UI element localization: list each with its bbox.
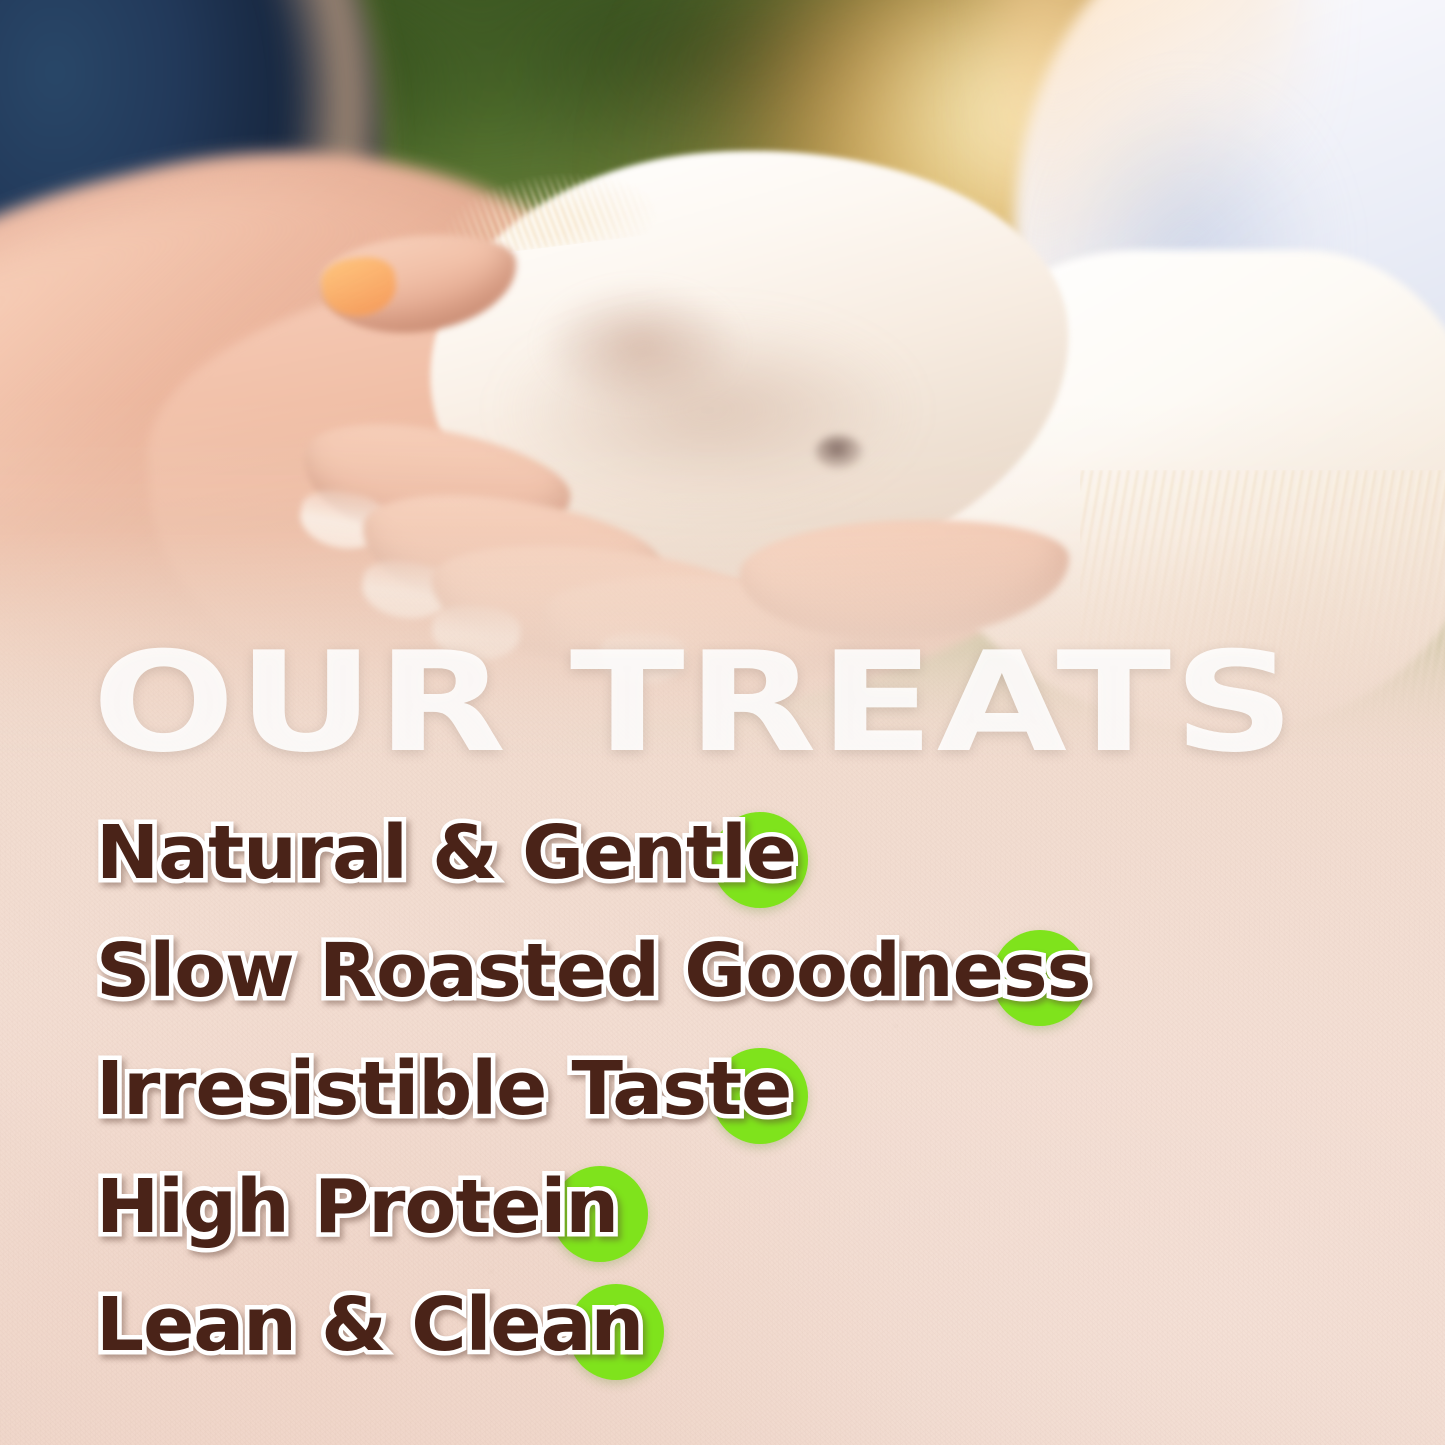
feature-label: Lean & Clean [96, 1288, 643, 1362]
list-item: Irresistible Taste [0, 1036, 1445, 1154]
list-item: Slow Roasted Goodness [0, 918, 1445, 1036]
list-item: Lean & Clean [0, 1272, 1445, 1390]
list-item: High Protein [0, 1154, 1445, 1272]
page-title: OUR TREATS [92, 634, 1297, 772]
feature-label: Slow Roasted Goodness [96, 934, 1091, 1008]
poster-canvas: OUR TREATS Natural & Gentle Slow Roasted… [0, 0, 1445, 1445]
list-item: Natural & Gentle [0, 800, 1445, 918]
feature-label: Natural & Gentle [96, 816, 796, 890]
feature-label: Irresistible Taste [96, 1052, 791, 1126]
feature-label: High Protein [96, 1170, 618, 1244]
feature-list: Natural & Gentle Slow Roasted Goodness I… [0, 800, 1445, 1390]
